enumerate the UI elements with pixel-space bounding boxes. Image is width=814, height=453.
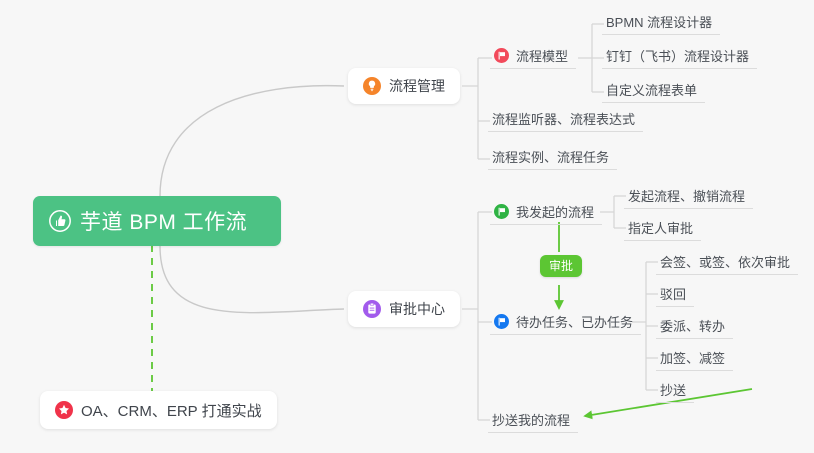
node-dingtalk-feishu-designer-label: 钉钉（飞书）流程设计器 [606,46,749,65]
node-my-started-process-label: 我发起的流程 [516,202,594,221]
node-todo-done-task-label: 待办任务、已办任务 [516,312,633,331]
node-process-model-label: 流程模型 [516,46,568,65]
node-custom-process-form[interactable]: 自定义流程表单 [602,77,705,103]
edge-root-to-process-management [160,86,344,196]
star-icon [55,401,73,419]
node-add-remove-sign[interactable]: 加签、减签 [656,345,733,371]
mindmap-canvas: 芋道 BPM 工作流 流程管理 流程模型 BPMN 流程设计器 钉钉（飞书）流程 [0,0,814,453]
node-start-cancel-process-label: 发起流程、撤销流程 [628,186,745,205]
node-countersign[interactable]: 会签、或签、依次审批 [656,249,798,275]
node-delegate-transfer[interactable]: 委派、转办 [656,313,733,339]
edge-root-to-approval-center [160,246,344,313]
node-listener-expression-label: 流程监听器、流程表达式 [492,109,635,128]
node-process-model[interactable]: 流程模型 [490,43,576,69]
thumbs-up-icon [49,210,71,232]
node-start-cancel-process[interactable]: 发起流程、撤销流程 [624,183,753,209]
node-custom-process-form-label: 自定义流程表单 [606,80,697,99]
node-add-remove-sign-label: 加签、减签 [660,348,725,367]
node-cc-to-me-process[interactable]: 抄送我的流程 [488,407,578,433]
node-cc-label: 抄送 [660,380,686,399]
branch-approval-center[interactable]: 审批中心 [348,291,460,327]
node-my-started-process[interactable]: 我发起的流程 [490,199,602,225]
node-todo-done-task[interactable]: 待办任务、已办任务 [490,309,641,335]
node-cc[interactable]: 抄送 [656,377,694,403]
node-reject-label: 驳回 [660,284,686,303]
node-bpmn-designer-label: BPMN 流程设计器 [606,12,712,31]
node-countersign-label: 会签、或签、依次审批 [660,252,790,271]
branch-approval-center-label: 审批中心 [389,299,445,319]
node-dingtalk-feishu-designer[interactable]: 钉钉（飞书）流程设计器 [602,43,757,69]
approval-badge: 审批 [540,255,582,277]
node-cc-to-me-process-label: 抄送我的流程 [492,410,570,429]
lightbulb-pin-icon [363,77,381,95]
flag-icon [494,204,509,219]
node-assignee-approval[interactable]: 指定人审批 [624,215,701,241]
node-bpmn-designer[interactable]: BPMN 流程设计器 [602,9,720,35]
node-instance-task[interactable]: 流程实例、流程任务 [488,144,617,170]
integration-callout-label: OA、CRM、ERP 打通实战 [81,400,262,421]
node-reject[interactable]: 驳回 [656,281,694,307]
node-assignee-approval-label: 指定人审批 [628,218,693,237]
root-node[interactable]: 芋道 BPM 工作流 [33,196,281,246]
branch-process-management-label: 流程管理 [389,76,445,96]
flag-icon [494,314,509,329]
integration-callout[interactable]: OA、CRM、ERP 打通实战 [40,391,277,429]
node-instance-task-label: 流程实例、流程任务 [492,147,609,166]
root-label: 芋道 BPM 工作流 [80,206,247,236]
branch-process-management[interactable]: 流程管理 [348,68,460,104]
clipboard-icon [363,300,381,318]
node-delegate-transfer-label: 委派、转办 [660,316,725,335]
node-listener-expression[interactable]: 流程监听器、流程表达式 [488,106,643,132]
flag-icon [494,48,509,63]
